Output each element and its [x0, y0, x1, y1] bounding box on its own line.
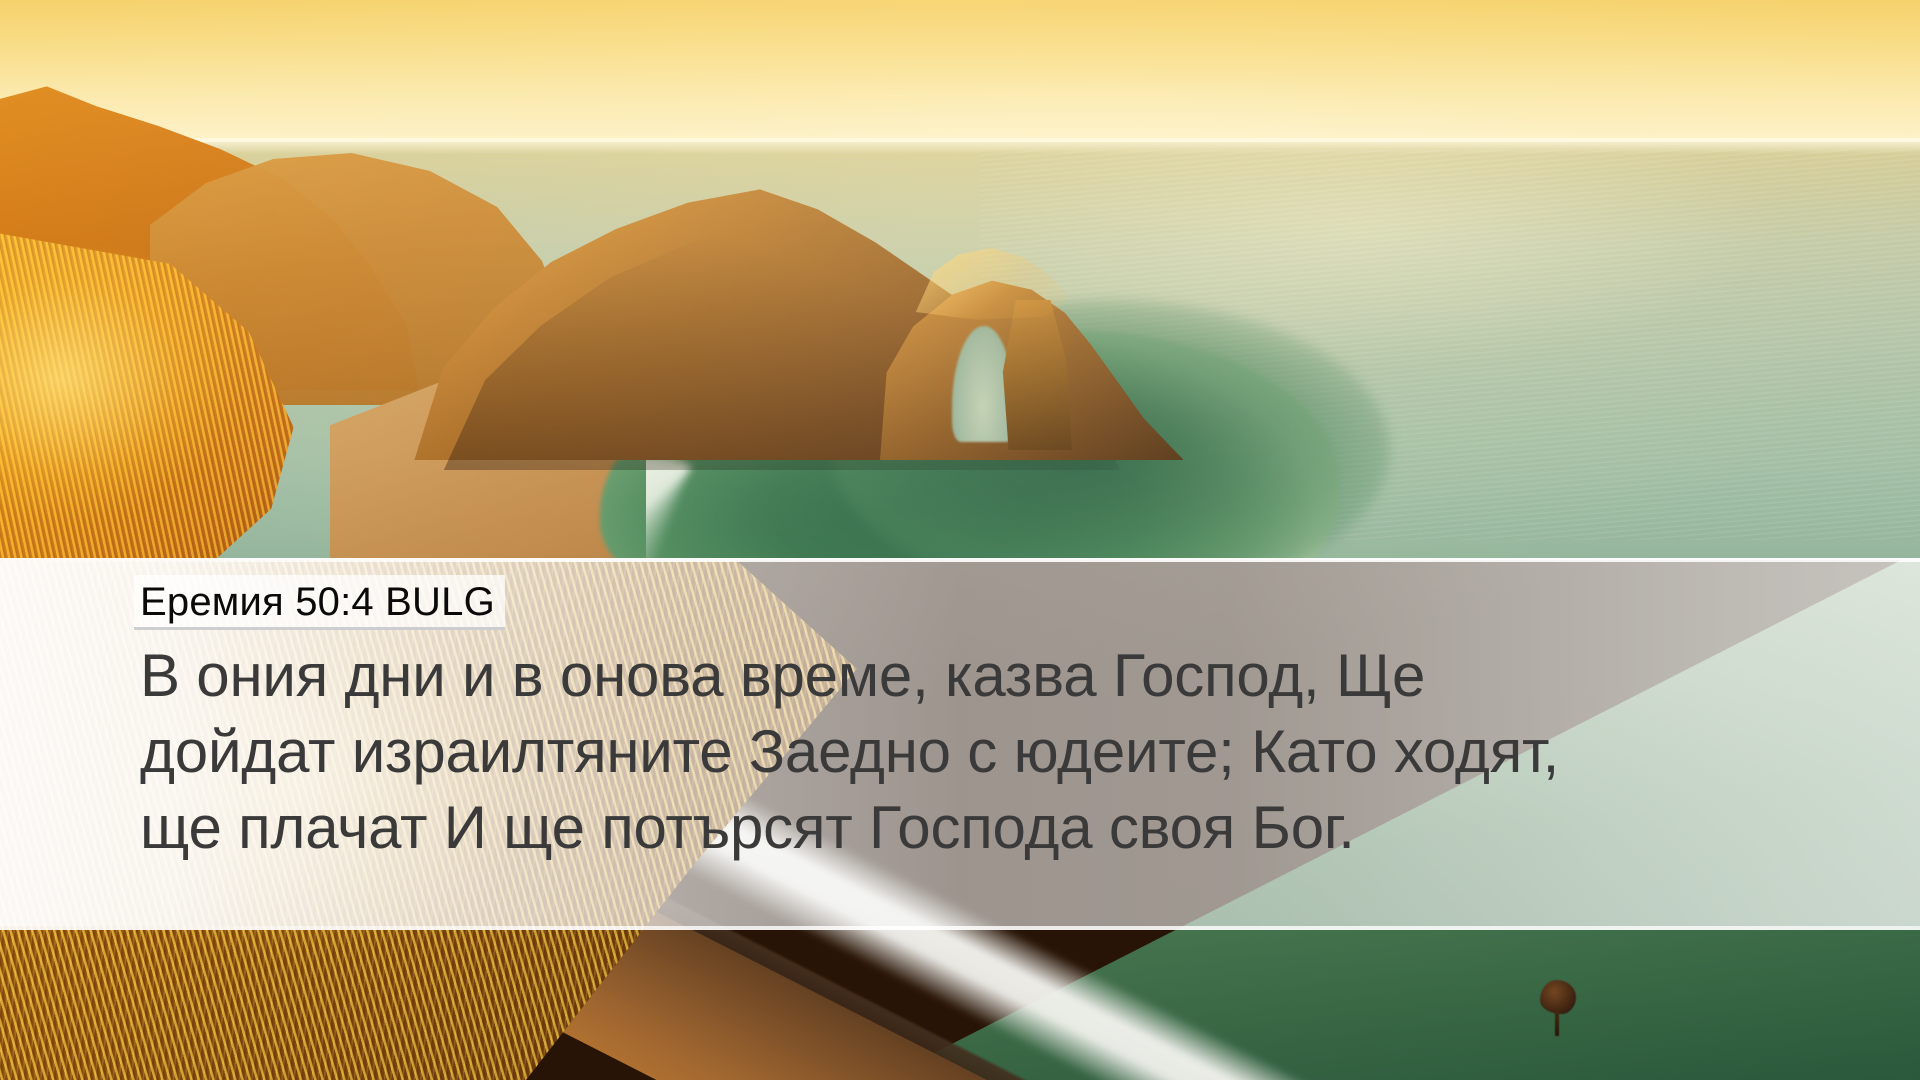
verse-reference-badge: Еремия 50:4 BULG — [134, 575, 505, 630]
verse-line-2: дойдат израилтяните Заедно с юдеите; Кат… — [140, 714, 1820, 790]
verse-content: Еремия 50:4 BULG В ония дни и в онова вр… — [140, 575, 1840, 866]
verse-image-canvas: Еремия 50:4 BULG В ония дни и в онова вр… — [0, 0, 1920, 1080]
lone-shore-rock-stem — [1555, 1010, 1559, 1036]
verse-band-bottom-rule — [0, 926, 1920, 930]
lone-shore-rock — [1540, 980, 1576, 1014]
verse-reference: Еремия 50:4 BULG — [140, 579, 495, 625]
verse-line-1: В ония дни и в онова време, казва Господ… — [140, 638, 1820, 714]
grass-sunlight-glow-upper — [0, 250, 300, 570]
verse-text: В ония дни и в онова време, казва Господ… — [140, 638, 1820, 866]
verse-line-3: ще плачат И ще потърсят Господа своя Бог… — [140, 790, 1820, 866]
